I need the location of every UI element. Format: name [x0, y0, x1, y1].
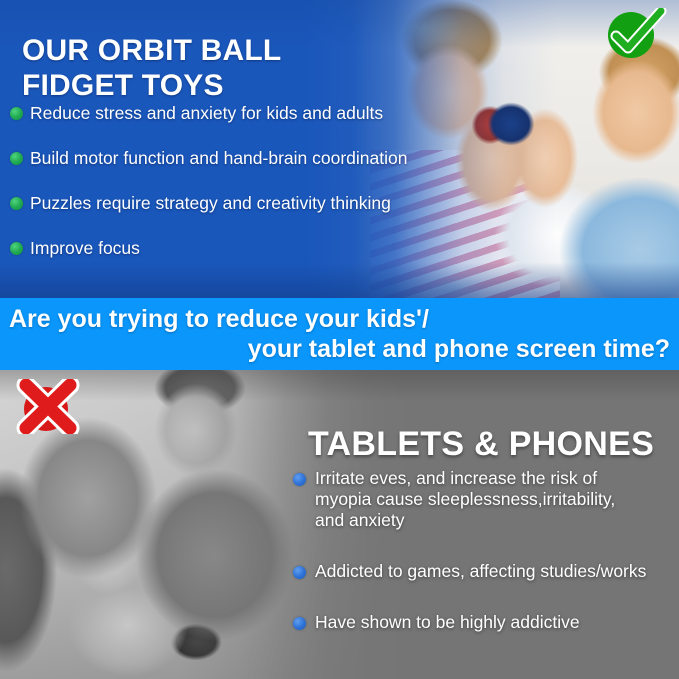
green-check-icon	[601, 8, 667, 60]
benefit-text: Reduce stress and anxiety for kids and a…	[30, 103, 383, 123]
banner-line-2: your tablet and phone screen time?	[0, 334, 679, 364]
drawback-text-line: myopia cause sleeplessness,irritability,	[315, 489, 615, 510]
benefit-text: Improve focus	[30, 238, 140, 258]
green-dot-bullet-icon	[10, 242, 23, 255]
drawbacks-panel: TABLETS & PHONES Irritate eves, and incr…	[0, 370, 679, 679]
product-infographic: OUR ORBIT BALL FIDGET TOYS Reduce stress…	[0, 0, 679, 679]
list-item: Build motor function and hand-brain coor…	[10, 148, 480, 168]
drawbacks-list: Irritate eves, and increase the risk of …	[293, 468, 679, 633]
drawbacks-title: TABLETS & PHONES	[308, 424, 654, 464]
benefit-text: Puzzles require strategy and creativity …	[30, 193, 391, 213]
blue-dot-bullet-icon	[293, 617, 306, 630]
list-item: Puzzles require strategy and creativity …	[10, 193, 480, 213]
benefits-title: OUR ORBIT BALL FIDGET TOYS	[22, 33, 442, 103]
benefits-title-line-1: OUR ORBIT BALL	[22, 33, 442, 68]
drawback-text: Irritate eves, and increase the risk of …	[315, 468, 615, 531]
drawback-text-line: and anxiety	[315, 510, 615, 531]
benefits-list: Reduce stress and anxiety for kids and a…	[10, 103, 480, 258]
benefit-text: Build motor function and hand-brain coor…	[30, 148, 407, 168]
blue-dot-bullet-icon	[293, 566, 306, 579]
red-x-icon	[16, 379, 80, 434]
green-dot-bullet-icon	[10, 107, 23, 120]
drawback-text: Addicted to games, affecting studies/wor…	[315, 561, 646, 582]
list-item: Improve focus	[10, 238, 480, 258]
green-dot-bullet-icon	[10, 152, 23, 165]
list-item: Addicted to games, affecting studies/wor…	[293, 561, 679, 582]
benefits-panel: OUR ORBIT BALL FIDGET TOYS Reduce stress…	[0, 0, 679, 298]
banner-text: Are you trying to reduce your kids'/ you…	[0, 304, 679, 364]
list-item: Reduce stress and anxiety for kids and a…	[10, 103, 480, 123]
list-item: Have shown to be highly addictive	[293, 612, 679, 633]
banner-line-1: Are you trying to reduce your kids'/	[0, 304, 679, 334]
green-dot-bullet-icon	[10, 197, 23, 210]
question-banner: Are you trying to reduce your kids'/ you…	[0, 298, 679, 370]
blue-dot-bullet-icon	[293, 473, 306, 486]
drawback-text: Have shown to be highly addictive	[315, 612, 580, 633]
list-item: Irritate eves, and increase the risk of …	[293, 468, 679, 531]
drawback-text-line: Irritate eves, and increase the risk of	[315, 468, 615, 489]
benefits-title-line-2: FIDGET TOYS	[22, 68, 442, 103]
